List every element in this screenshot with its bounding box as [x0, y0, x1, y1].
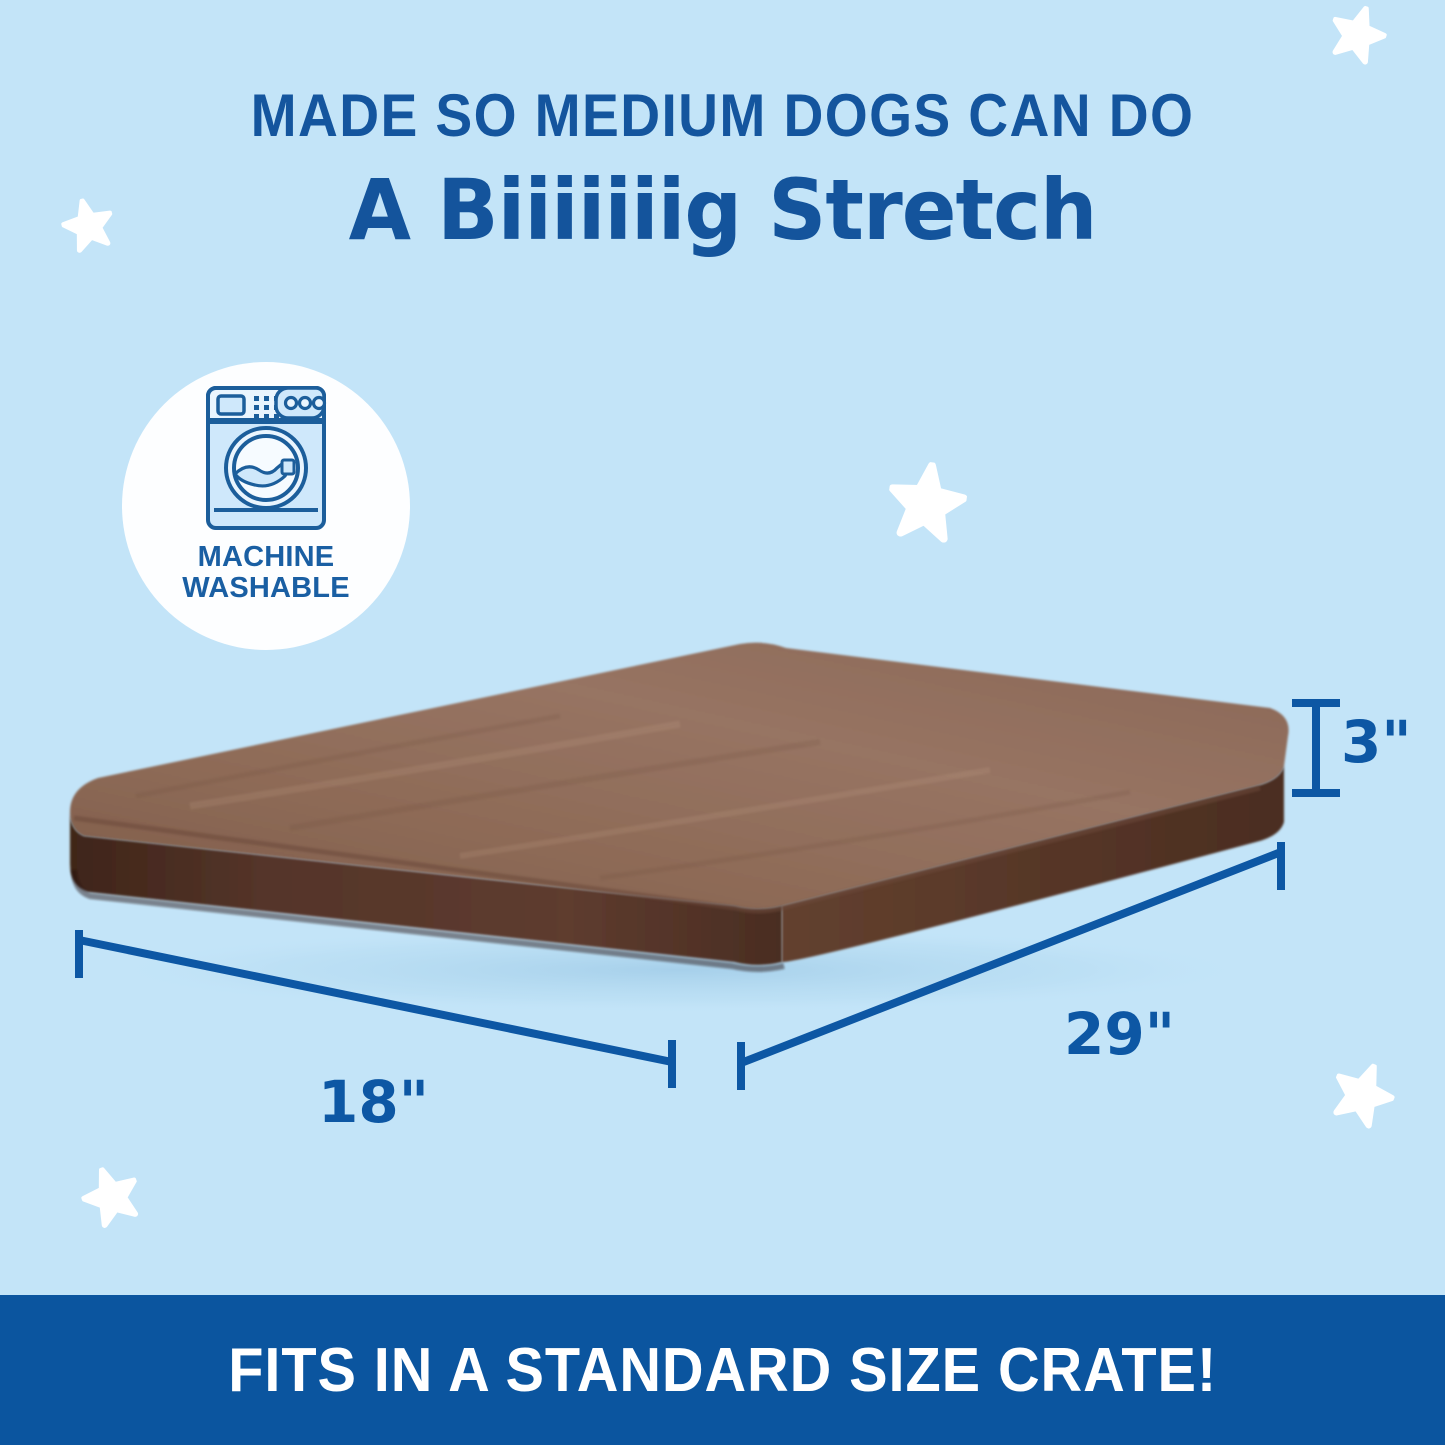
badge-label-line-1: MACHINE — [198, 541, 335, 573]
machine-washable-label: MACHINE WASHABLE — [182, 542, 350, 605]
machine-washable-badge: MACHINE WASHABLE — [122, 362, 410, 650]
headline-secondary: A Biiiiiiig Stretch — [29, 168, 1416, 252]
dog-bed-product-image — [40, 620, 1310, 1040]
bottom-banner: FITS IN A STANDARD SIZE CRATE! — [0, 1295, 1445, 1445]
dimension-label-height: 3" — [1341, 708, 1412, 776]
headline-primary: MADE SO MEDIUM DOGS CAN DO — [58, 86, 1387, 146]
product-infographic: MADE SO MEDIUM DOGS CAN DO A Biiiiiiig S… — [0, 0, 1445, 1445]
washing-machine-icon — [200, 382, 332, 534]
star-lower-right-icon — [1323, 1053, 1404, 1134]
star-lower-left-icon — [74, 1158, 148, 1232]
headline-block: MADE SO MEDIUM DOGS CAN DO A Biiiiiiig S… — [0, 86, 1445, 252]
star-top-right-icon — [1323, 0, 1394, 68]
dimension-label-width: 18" — [318, 1068, 429, 1136]
badge-label-line-2: WASHABLE — [182, 573, 350, 604]
banner-text: FITS IN A STANDARD SIZE CRATE! — [228, 1335, 1217, 1406]
star-mid-right-icon — [883, 457, 971, 545]
